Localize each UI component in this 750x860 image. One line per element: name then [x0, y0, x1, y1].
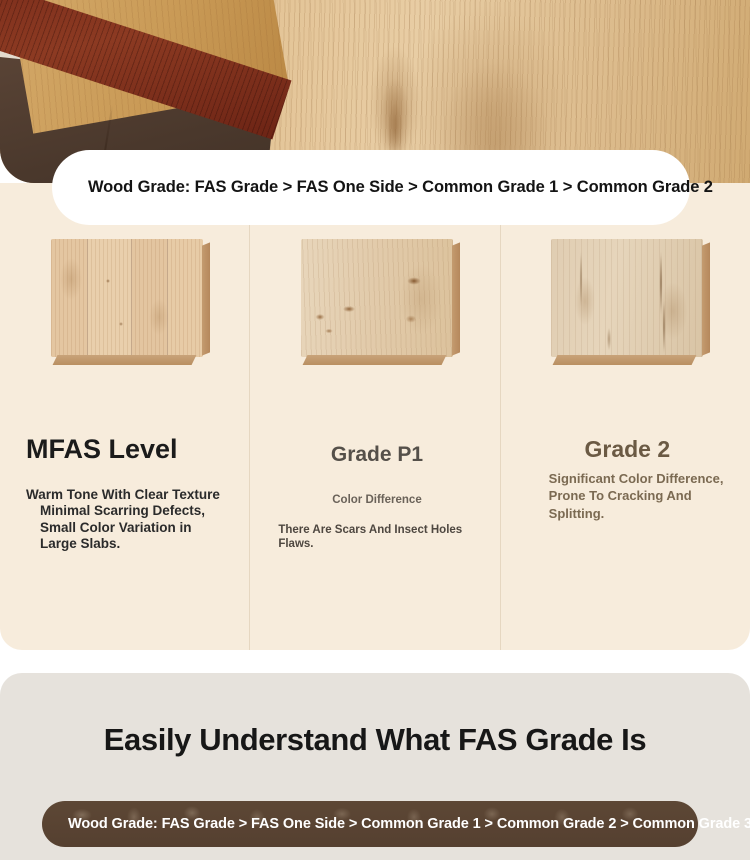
wood-sample-grade-2-icon	[551, 239, 703, 357]
swatch-edge-bottom-2	[303, 355, 447, 365]
grade-title-1: MFAS Level	[22, 435, 231, 465]
swatch-wrap-2	[272, 225, 481, 399]
grade-comparison-panel: MFAS Level Warm Tone With Clear Texture …	[0, 183, 750, 650]
grade-column-mfas: MFAS Level Warm Tone With Clear Texture …	[0, 225, 249, 650]
grade-desc-1-lead: Warm Tone With Clear Texture	[26, 487, 231, 503]
top-breadcrumb-pill: Wood Grade: FAS Grade > FAS One Side > C…	[52, 150, 690, 225]
swatch-wrap-3	[523, 225, 732, 399]
bottom-section: Easily Understand What FAS Grade Is Wood…	[0, 673, 750, 860]
grade-columns: MFAS Level Warm Tone With Clear Texture …	[0, 225, 750, 650]
swatch-face-1	[51, 239, 203, 357]
swatch-face-3	[551, 239, 703, 357]
swatch-edge-right-3	[702, 242, 710, 355]
swatch-edge-right-1	[202, 242, 210, 355]
bottom-heading: Easily Understand What FAS Grade Is	[0, 673, 750, 758]
bottom-breadcrumb-pill: Wood Grade: FAS Grade > FAS One Side > C…	[42, 801, 698, 847]
swatch-edge-bottom-3	[553, 355, 697, 365]
page-root: Wood Grade: FAS Grade > FAS One Side > C…	[0, 0, 750, 860]
top-breadcrumb-text: Wood Grade: FAS Grade > FAS One Side > C…	[52, 178, 713, 197]
grade-title-3: Grade 2	[523, 437, 732, 462]
swatch-edge-bottom-1	[52, 355, 196, 365]
grade-desc-2-flaws: There Are Scars And Insect Holes Flaws.	[272, 524, 481, 552]
grade-title-2: Grade P1	[272, 443, 481, 466]
swatch-face-2	[301, 239, 453, 357]
grade-desc-1-rest: Minimal Scarring Defects, Small Color Va…	[26, 503, 231, 552]
swatch-wrap-1	[22, 225, 231, 399]
bottom-breadcrumb-text: Wood Grade: FAS Grade > FAS One Side > C…	[42, 816, 750, 832]
wood-sample-grade-p1-icon	[301, 239, 453, 357]
grade-desc-1: Warm Tone With Clear Texture Minimal Sca…	[22, 487, 231, 553]
grade-desc-3: Significant Color Difference, Prone To C…	[523, 470, 732, 521]
grade-column-p1: Grade P1 Color Difference There Are Scar…	[249, 225, 499, 650]
swatch-edge-right-2	[452, 242, 460, 355]
grade-column-2: Grade 2 Significant Color Difference, Pr…	[500, 225, 750, 650]
grade-desc-2-color: Color Difference	[272, 494, 481, 508]
wood-sample-mfas-icon	[51, 239, 203, 357]
